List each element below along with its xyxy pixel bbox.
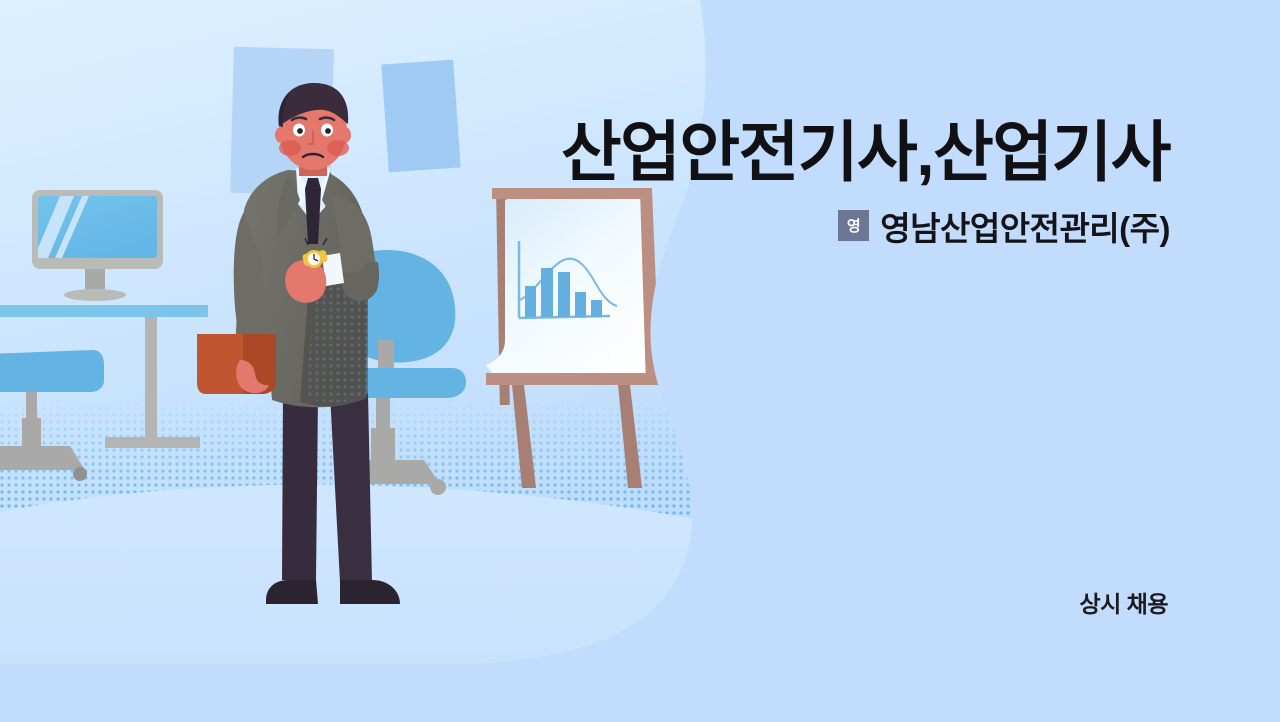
page-title: 산업안전기사,산업기사 <box>440 118 1170 188</box>
desk-monitor <box>32 190 163 301</box>
hiring-status-label: 상시 채용 <box>1079 585 1168 619</box>
banner-text-block: 산업안전기사,산업기사 영 영남산업안전관리(주) <box>440 118 1170 250</box>
company-badge-icon: 영 <box>838 210 869 241</box>
job-posting-banner: 산업안전기사,산업기사 영 영남산업안전관리(주) 상시 채용 <box>0 0 1280 722</box>
company-row[interactable]: 영 영남산업안전관리(주) <box>440 202 1170 250</box>
company-name[interactable]: 영남산업안전관리(주) <box>880 202 1170 250</box>
trouser-left <box>282 395 318 580</box>
hand-right <box>285 260 326 303</box>
